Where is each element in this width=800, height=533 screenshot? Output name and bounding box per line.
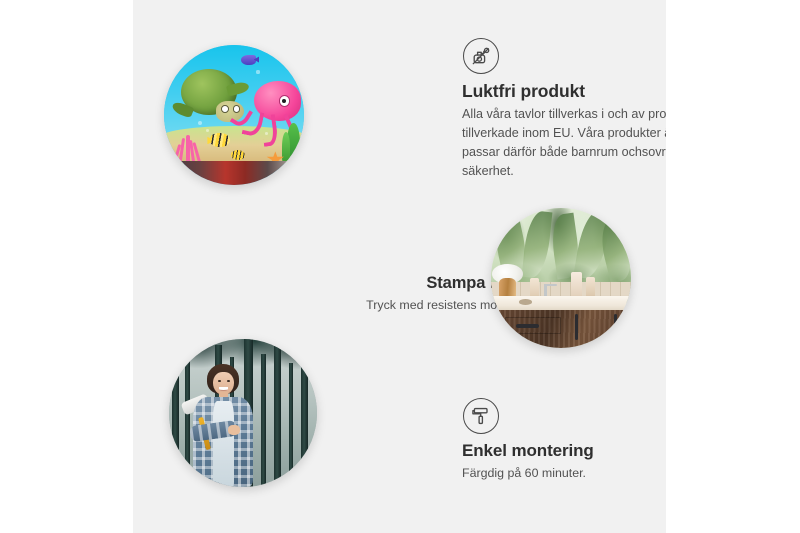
bathroom-tropical-wallpaper-circle <box>491 208 631 348</box>
woman-smile <box>219 387 228 391</box>
faucet-spout <box>544 284 557 287</box>
woman-eye-left <box>218 380 221 382</box>
room-foreground-strip <box>164 161 304 185</box>
cabinet-handle <box>614 314 617 339</box>
tree-trunk <box>301 349 308 487</box>
tree-trunk <box>172 351 179 487</box>
paint-roller-icon <box>463 398 499 434</box>
feature-description: Alla våra tavlor tillverkas i och av pro… <box>462 105 666 182</box>
content-canvas: Luktfri produkt Alla våra tavlor tillver… <box>133 0 666 533</box>
tree-trunk <box>289 363 293 487</box>
no-fragrance-spray-icon <box>463 38 499 74</box>
tree-trunk <box>185 360 189 487</box>
woman-inner-top <box>213 401 234 487</box>
feature-title: Luktfri produkt <box>462 81 666 102</box>
turtle-eye-left <box>221 105 229 113</box>
forest-canopy <box>169 339 317 389</box>
yellow-striped-fish-small <box>231 150 245 160</box>
forest-mural-installer-circle <box>169 339 317 487</box>
feature-title: Enkel montering <box>462 441 666 461</box>
bubble-icon <box>265 132 268 135</box>
yellow-striped-fish <box>210 133 230 147</box>
soap-dish <box>519 299 532 305</box>
underwater-kids-mural-circle <box>164 45 304 185</box>
promo-infographic: Luktfri produkt Alla våra tavlor tillver… <box>0 0 800 533</box>
tree-trunk <box>274 346 281 487</box>
drawer-handle <box>516 324 538 327</box>
woman-eye-right <box>227 380 230 382</box>
bubble-icon <box>256 70 259 73</box>
seaweed <box>282 132 290 163</box>
tree-trunk <box>261 354 266 487</box>
bubble-icon <box>198 121 202 125</box>
feature-description: Färgdig på 60 minuter. <box>462 464 666 483</box>
bubble-icon <box>206 129 209 132</box>
woman-hand <box>228 425 240 435</box>
cabinet-handle <box>575 314 578 339</box>
feature-easy-mounting: Enkel montering Färgdig på 60 minuter. <box>462 398 666 483</box>
feature-odour-free: Luktfri produkt Alla våra tavlor tillver… <box>462 38 666 182</box>
